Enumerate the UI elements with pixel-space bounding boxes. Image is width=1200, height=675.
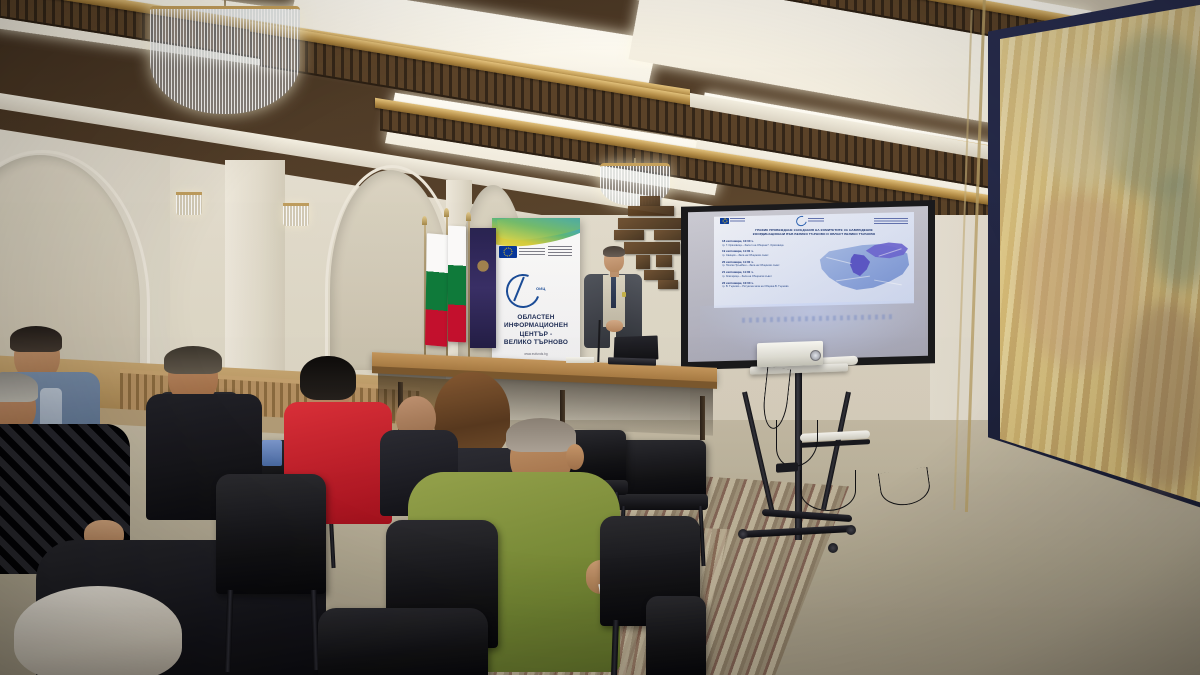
managing-authority-logo xyxy=(874,218,908,224)
crystal-wall-sconce xyxy=(176,192,202,215)
presenter-hair xyxy=(603,246,625,257)
attendee-hair xyxy=(10,326,62,352)
slide-schedule-list: 18 септември, 10:00 ч. гр. Г. Оряховица … xyxy=(722,240,818,292)
banner-title-line-2: ИНФОРМАЦИОНЕН xyxy=(492,322,580,330)
attendee-ear xyxy=(566,444,584,470)
schedule-place: гр. Полски Тръмбеш – Зала на Общински съ… xyxy=(722,264,818,267)
presenter-hands xyxy=(606,320,623,332)
flag-finial xyxy=(422,216,427,225)
tapestry-motif xyxy=(1120,300,1200,490)
schedule-place: гр. Златарица – Зала на Общински съвет xyxy=(722,275,818,278)
conference-room-photo: ГРАФИК ПРОВЕЖДАНЕ ЗАСЕДАНИЯ НА КОМИТЕТИТ… xyxy=(0,0,1200,675)
eu-logo-caption xyxy=(730,218,745,223)
power-adapter xyxy=(776,462,798,473)
papers-on-table xyxy=(566,357,594,363)
slide-logo-row xyxy=(720,215,908,226)
map-of-bulgaria xyxy=(818,236,910,298)
schedule-item: 20 септември, 11:00 ч. гр. Полски Тръмбе… xyxy=(722,261,818,268)
banner-title-line-3: ЦЕНТЪР - xyxy=(492,331,580,339)
tapestry-motif xyxy=(1020,190,1140,370)
eu-flag-logo xyxy=(499,246,517,258)
banner-title-line-4: ВЕЛИКО ТЪРНОВО xyxy=(492,339,580,347)
emblem-ring-icon xyxy=(500,268,545,313)
regional-info-centre-logo xyxy=(796,216,824,226)
schedule-place: гр. В. Търново – Ритуална зала на Община… xyxy=(722,285,818,288)
bulgarian-flag xyxy=(448,226,466,343)
eu-logo-caption xyxy=(519,248,545,256)
schedule-item: 19 септември, 11:00 ч. гр. Свищов – Зала… xyxy=(722,250,818,257)
ceremonial-banner-flag xyxy=(470,228,496,348)
roll-up-banner: ОИЦ ОБЛАСТЕН ИНФОРМАЦИОНЕН ЦЕНТЪР - ВЕЛИ… xyxy=(492,218,580,366)
stand-caster-wheel xyxy=(846,525,856,535)
attendee-phone xyxy=(262,440,282,466)
flag-finial xyxy=(444,208,449,217)
presentation-slide: ГРАФИК ПРОВЕЖДАНЕ ЗАСЕДАНИЯ НА КОМИТЕТИТ… xyxy=(714,212,914,308)
bulgarian-flag xyxy=(425,233,449,347)
stand-caster-wheel xyxy=(828,543,838,553)
schedule-item: 21 септември, 11:00 ч. гр. Златарица – З… xyxy=(722,271,818,278)
centre-logo-caption xyxy=(808,218,824,223)
chandelier-crystals xyxy=(150,6,300,114)
crystal-wall-sconce xyxy=(283,203,309,226)
banner-footer: www.eufunds.bg xyxy=(492,352,580,356)
attendee-hair xyxy=(14,586,182,675)
attendee-hair xyxy=(164,346,222,374)
oic-emblem: ОИЦ xyxy=(506,272,564,308)
schedule-place: гр. Г. Оряховица – Зала 1 на Община Г. О… xyxy=(722,244,818,247)
presenter-lapel-badge xyxy=(622,292,626,297)
attendee-hair xyxy=(506,418,576,452)
power-cable xyxy=(800,470,856,511)
projector-lens xyxy=(810,350,821,361)
schedule-item: 18 септември, 10:00 ч. гр. Г. Оряховица … xyxy=(722,240,818,247)
eu-flag-logo xyxy=(720,217,746,225)
schedule-item: 22 септември, 10:00 ч. гр. В. Търново – … xyxy=(722,282,818,289)
flag-finial xyxy=(466,212,471,221)
stand-caster-wheel xyxy=(738,529,748,539)
operational-programme-logo xyxy=(548,246,572,257)
banner-title-line-1: ОБЛАСТЕН xyxy=(492,314,580,322)
swoosh-icon xyxy=(794,213,809,227)
banner-title: ОБЛАСТЕН ИНФОРМАЦИОНЕН ЦЕНТЪР - ВЕЛИКО Т… xyxy=(492,314,580,348)
crystal-chandelier xyxy=(150,0,300,114)
table-leg xyxy=(700,396,705,440)
attendee-hair xyxy=(300,356,356,400)
presenter-tie xyxy=(611,276,616,308)
eu-flag-icon xyxy=(720,218,729,224)
schedule-place: гр. Свищов – Зала на Общински съвет xyxy=(722,254,818,257)
tapestry-motif xyxy=(1040,60,1130,190)
emblem-word: ОИЦ xyxy=(536,286,546,291)
